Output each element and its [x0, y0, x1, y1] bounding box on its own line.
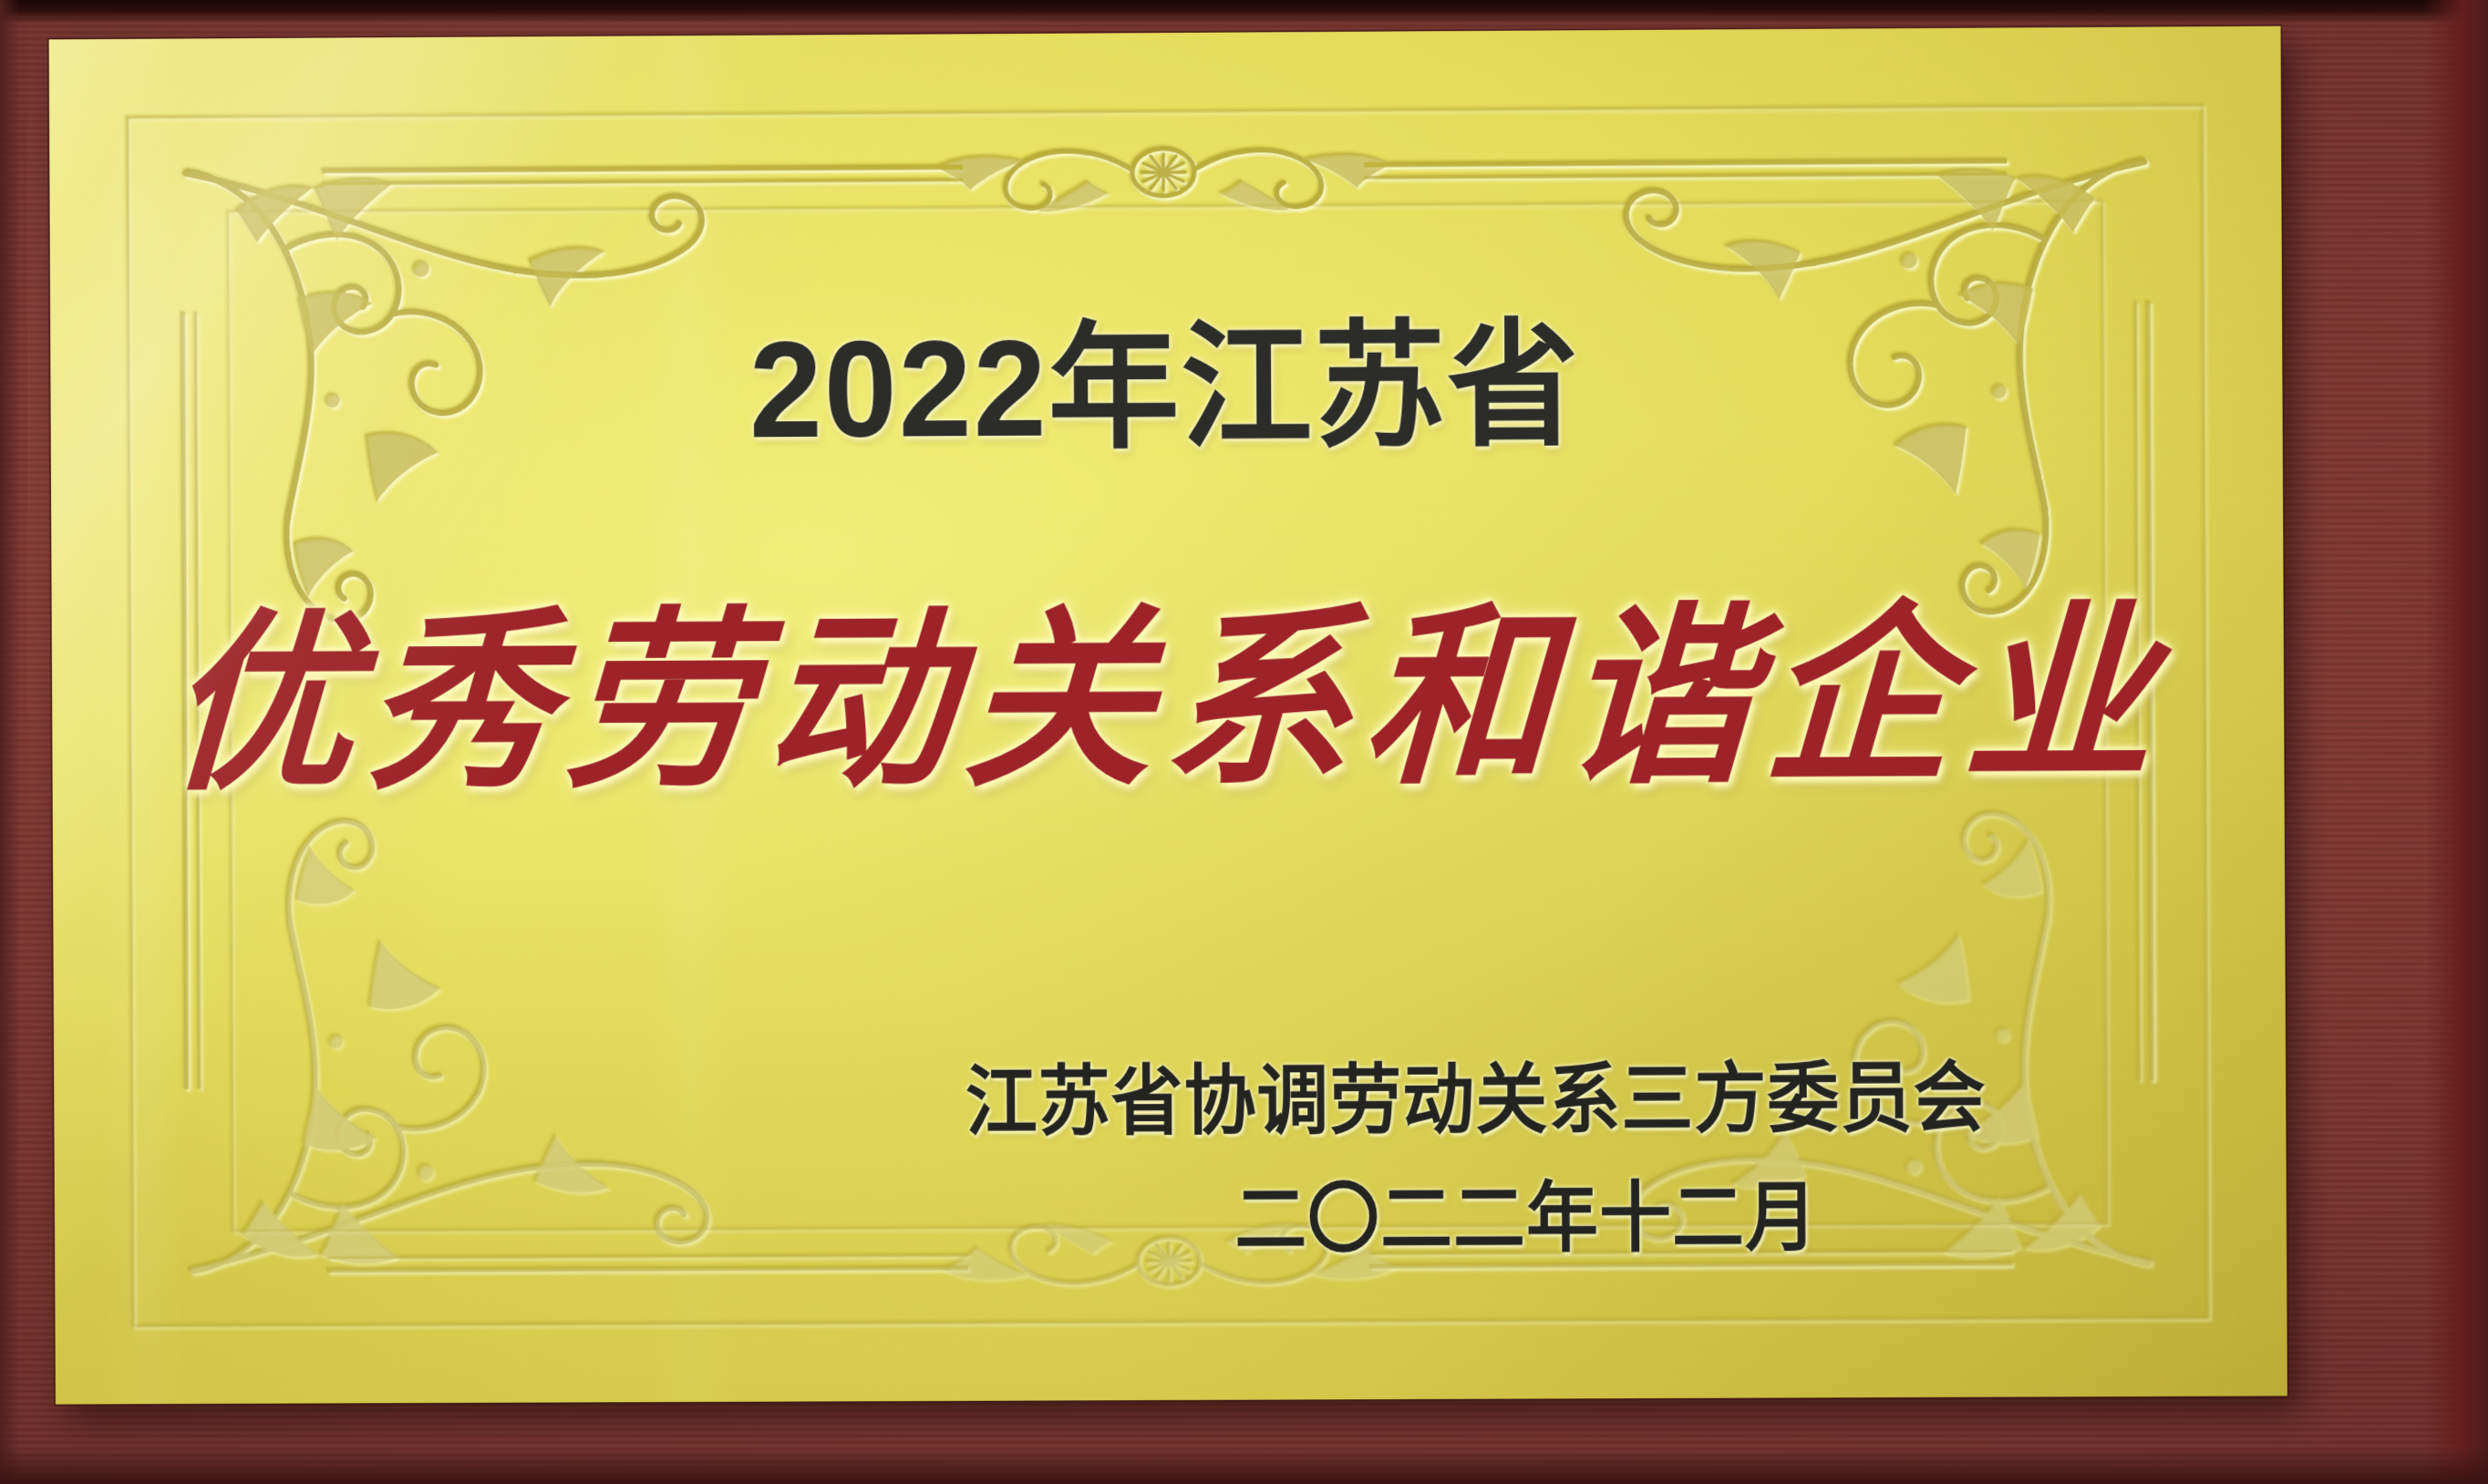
frame-right-edge-shadow	[2424, 0, 2488, 1484]
plate-brushed-texture	[49, 26, 2287, 1405]
award-plaque: 2022年江苏省 优秀劳动关系和谐企业 江苏省协调劳动关系三方委员会 二〇二二年…	[0, 0, 2488, 1484]
plate-surface: 2022年江苏省 优秀劳动关系和谐企业 江苏省协调劳动关系三方委员会 二〇二二年…	[49, 26, 2287, 1405]
frame-bottom-edge-shadow	[0, 1448, 2488, 1484]
frame-top-edge-shadow	[0, 0, 2488, 24]
gold-plate: 2022年江苏省 优秀劳动关系和谐企业 江苏省协调劳动关系三方委员会 二〇二二年…	[49, 26, 2287, 1405]
frame-left-edge-shadow	[0, 0, 20, 1484]
